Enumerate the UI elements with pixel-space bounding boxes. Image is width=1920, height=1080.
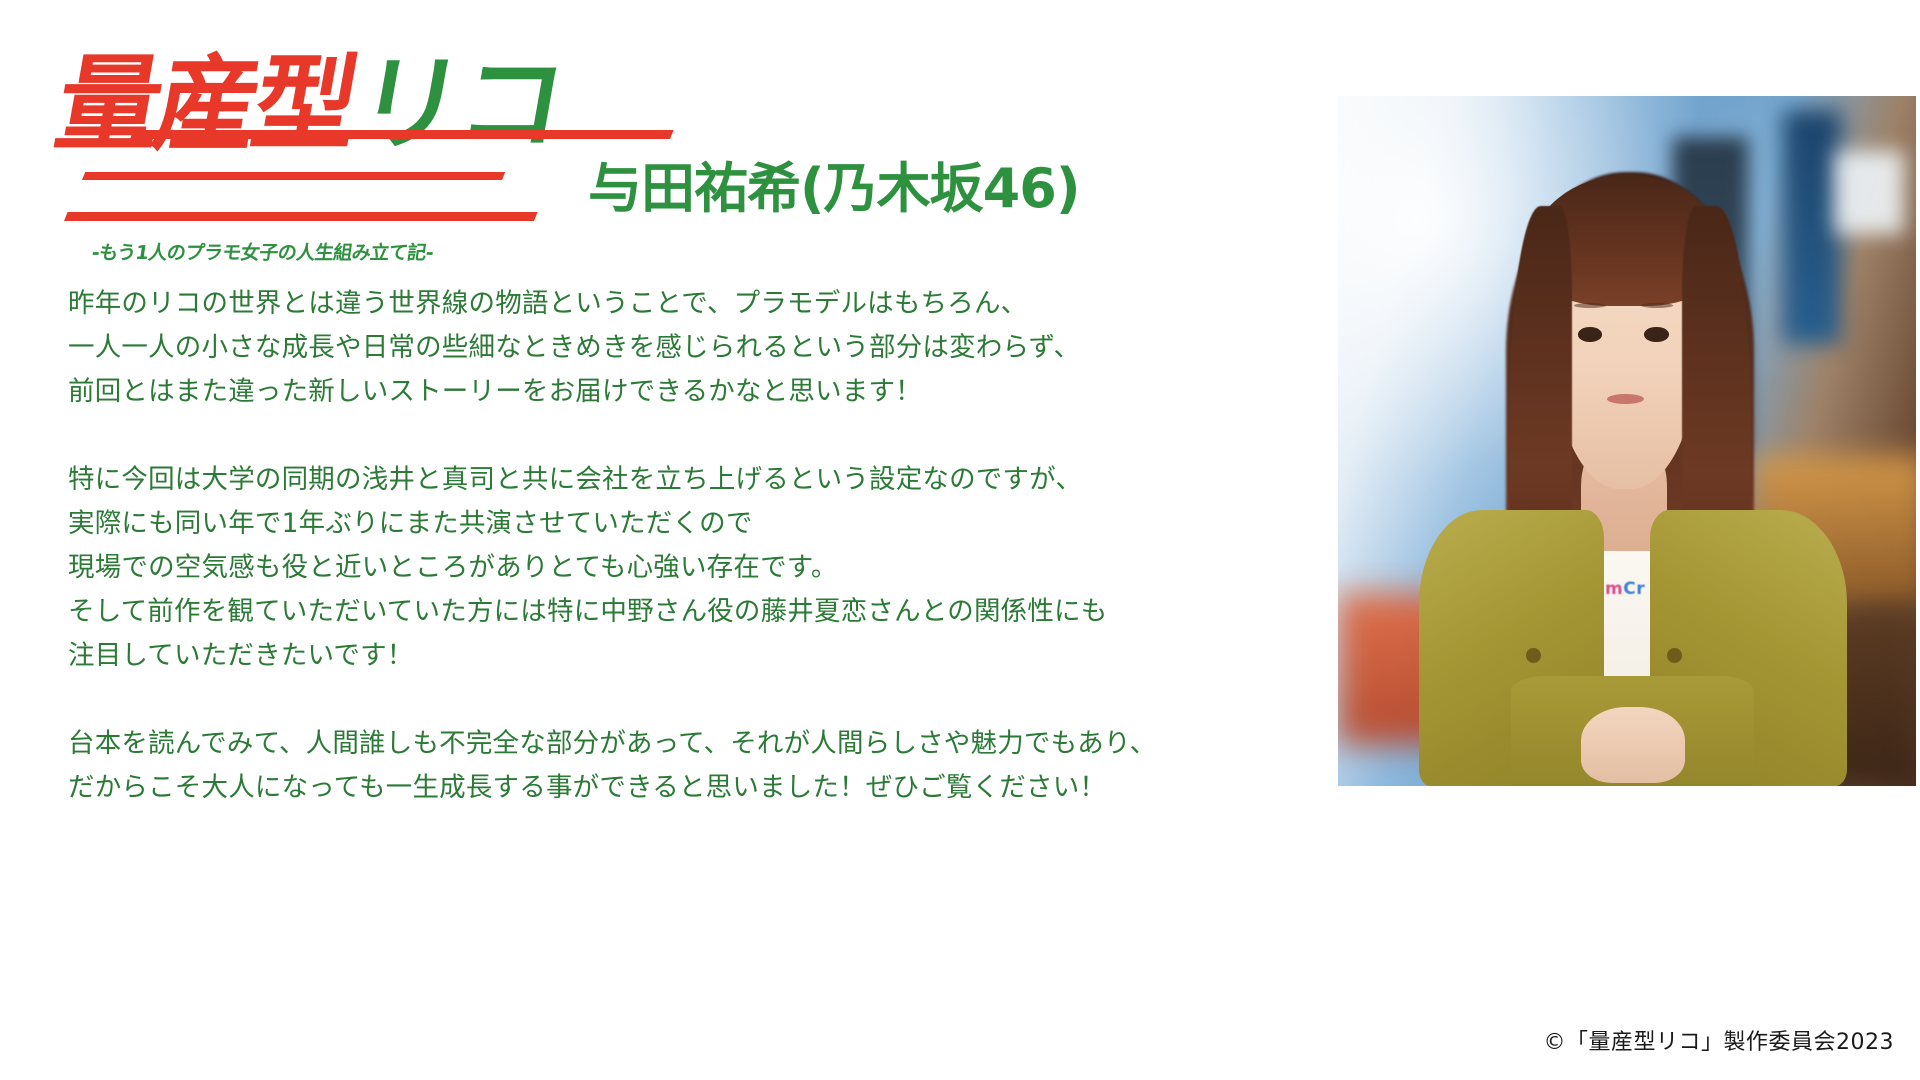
- comment-line: 昨年のリコの世界とは違う世界線の物語ということで、プラモデルはもちろん、: [68, 282, 1088, 326]
- comment-line: 一人一人の小さな成長や日常の些細なときめきを感じられるという部分は変わらず、: [68, 326, 1088, 370]
- logo-stroke-bottom-icon: [64, 212, 538, 221]
- tshirt-letter: m: [1605, 579, 1623, 599]
- comment-line: 特に今回は大学の同期の浅井と真司と共に会社を立ち上げるという設定なのですが、: [68, 458, 1088, 502]
- slide-root: 量産型 リコ -もう1人のプラモ女子の人生組み立て記- 与田祐希(乃木坂46) …: [0, 0, 1920, 1080]
- comment-body: 昨年のリコの世界とは違う世界線の物語ということで、プラモデルはもちろん、 一人一…: [68, 282, 1088, 810]
- figure-hands: [1581, 707, 1685, 783]
- comment-line: 前回とはまた違った新しいストーリーをお届けできるかなと思います！: [68, 370, 1088, 414]
- comment-line: 台本を読んでみて、人間誰しも不完全な部分があって、それが人間らしさや魅力でもあり…: [68, 722, 1088, 766]
- comment-line: そして前作を観ていただいていた方には特に中野さん役の藤井夏恋さんとの関係性にも: [68, 590, 1088, 634]
- comment-paragraph: 台本を読んでみて、人間誰しも不完全な部分があって、それが人間らしさや魅力でもあり…: [68, 722, 1088, 810]
- logo-kana-text: リコ: [349, 52, 571, 156]
- comment-line: 実際にも同い年で1年ぶりにまた共演させていただくので: [68, 502, 1088, 546]
- comment-line: だからこそ大人になっても一生成長する事ができると思いました！ぜひご覧ください！: [68, 766, 1088, 810]
- logo-stroke-middle-icon: [82, 172, 505, 180]
- figure-eye-left: [1578, 327, 1602, 341]
- comment-line: 現場での空気感も役と近いところがありとても心強い存在です。: [68, 546, 1088, 590]
- figure-eyebrow-left: [1574, 303, 1606, 308]
- cast-photo: reamCr: [1338, 96, 1916, 786]
- logo-wordmark: 量産型 リコ: [58, 52, 562, 156]
- cast-name: 与田祐希(乃木坂46): [588, 144, 1080, 223]
- logo-kanji-text: 量産型: [49, 52, 361, 156]
- copyright-notice: ©「量産型リコ」製作委員会2023: [1544, 1024, 1895, 1056]
- comment-paragraph: 昨年のリコの世界とは違う世界線の物語ということで、プラモデルはもちろん、 一人一…: [68, 282, 1088, 414]
- tshirt-letter: r: [1636, 579, 1645, 599]
- tshirt-letter: C: [1623, 579, 1636, 599]
- comment-line: 注目していただきたいです！: [68, 634, 1088, 678]
- figure-jacket-button-left: [1526, 648, 1541, 663]
- figure-eye-right: [1644, 327, 1668, 341]
- comment-paragraph: 特に今回は大学の同期の浅井と真司と共に会社を立ち上げるという設定なのですが、 実…: [68, 458, 1088, 678]
- photo-figure: reamCr: [1338, 96, 1916, 786]
- figure-eyebrow-right: [1641, 303, 1673, 308]
- logo-tagline: -もう1人のプラモ女子の人生組み立て記-: [90, 238, 435, 265]
